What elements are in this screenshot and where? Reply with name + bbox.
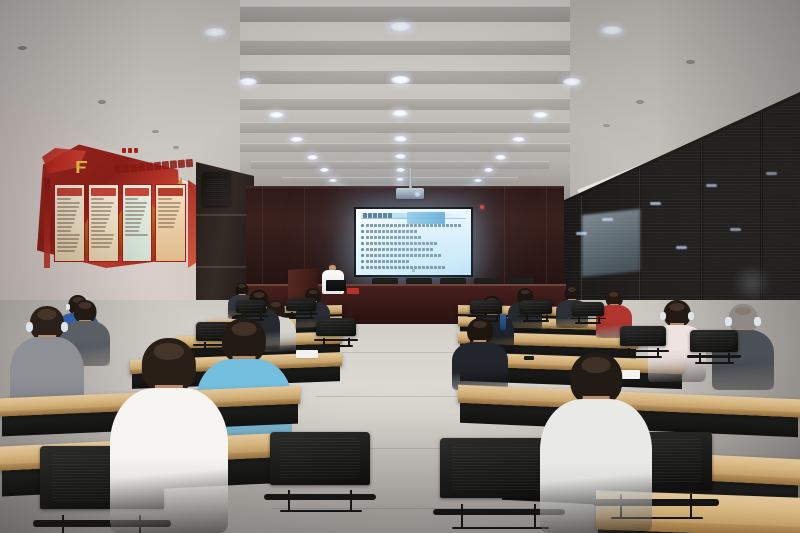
slide-bullet (361, 242, 466, 245)
chair-back[interactable] (270, 432, 370, 485)
attendee-hair-highlight (670, 303, 685, 311)
attendee-hair-highlight (521, 290, 530, 295)
ceiling-downlight (391, 76, 410, 84)
attendee-hair-highlight (473, 321, 487, 329)
attendee-hair-highlight (309, 290, 318, 295)
party-panel-line (125, 230, 139, 232)
conference-room-photo (0, 0, 800, 533)
glass-reflection-light (730, 228, 741, 231)
slide-bullet (361, 236, 466, 239)
glass-reflection-light (602, 218, 613, 221)
party-frame-left (44, 178, 50, 268)
attendee-hair-highlight (232, 322, 257, 335)
party-panel-line (91, 230, 105, 232)
party-panel-line (57, 234, 80, 236)
party-panel-line (57, 246, 77, 248)
party-panel-line (91, 218, 109, 220)
party-panel-line (125, 234, 148, 236)
slide-footer-mark (361, 269, 466, 272)
face-mask-icon (61, 322, 68, 332)
chair-leg (62, 515, 64, 533)
chair-sled-base (523, 320, 549, 322)
party-panel-line (91, 206, 113, 208)
face-mask-icon (26, 322, 33, 332)
party-panel-line (158, 198, 172, 200)
party-panel-line (57, 218, 75, 220)
chair-back[interactable] (572, 302, 604, 316)
party-panel-line (125, 210, 145, 212)
party-panel-line (57, 222, 74, 224)
party-panel-line (57, 238, 79, 240)
chair[interactable] (690, 330, 738, 360)
chair[interactable] (316, 318, 356, 343)
party-panel-line (125, 214, 144, 216)
party-panel-line (158, 210, 178, 212)
glass-reflection-blob (730, 266, 774, 300)
ceiling-downlight (392, 110, 408, 117)
party-panel-line (57, 198, 71, 200)
projection-screen (354, 207, 473, 277)
slide-bullet-text (366, 224, 461, 227)
chair-leg (348, 338, 350, 346)
head-table-nameplate (347, 288, 359, 294)
chair-leg (350, 490, 352, 512)
chair-armrest (314, 339, 359, 341)
party-info-panel (88, 184, 119, 262)
soffit-downlight (98, 100, 106, 104)
glass-reflection-light (650, 202, 661, 205)
ceiling-beam (215, 143, 586, 152)
chair-back[interactable] (520, 300, 552, 314)
ceiling-downlight (307, 155, 318, 160)
slide-bullet (361, 248, 466, 251)
attendee-hair-highlight (254, 292, 265, 298)
party-panel-line (57, 210, 77, 212)
glass-reflection-screen (582, 209, 640, 277)
chair-leg (657, 348, 659, 356)
ceiling-downlight (320, 168, 329, 172)
party-panel-line (158, 206, 180, 208)
party-info-panel (54, 184, 85, 262)
attendee-shoulder-shade (110, 455, 228, 533)
glass-reflection-light (576, 232, 587, 235)
soffit-downlight (152, 130, 159, 133)
party-panel-line (91, 234, 114, 236)
ceiling-downlight (389, 22, 412, 32)
party-panel-line (57, 214, 76, 216)
attendee-shoulder-shade (540, 461, 652, 533)
ceiling-downlight (495, 155, 506, 160)
party-panel-line (125, 198, 139, 200)
party-panel-line (125, 202, 148, 204)
chair-leg (323, 338, 325, 346)
glass-reflection-light (676, 246, 687, 249)
slide-bullet (361, 260, 466, 263)
ceiling-downlight (329, 179, 337, 182)
projector-lens-icon (414, 191, 421, 197)
slide-bullet-text (366, 254, 441, 257)
party-panel-line (91, 226, 106, 228)
ceiling-downlight (396, 178, 404, 181)
party-panel-line (57, 226, 72, 228)
slide (356, 209, 471, 275)
wall-speaker (202, 172, 230, 206)
slide-title-bar (361, 213, 466, 219)
party-frame-right (188, 180, 196, 268)
party-panel-heading (91, 188, 116, 196)
party-panel-line (91, 222, 108, 224)
ceiling-downlight (394, 136, 407, 142)
party-panel-line (91, 210, 111, 212)
chair-back[interactable] (620, 326, 666, 346)
bullet-marker-icon (361, 254, 364, 257)
chair[interactable] (270, 432, 370, 506)
party-panel-line (91, 214, 110, 216)
chair-armrest (687, 355, 741, 357)
slide-title-chip (407, 212, 445, 224)
attendee-hair-highlight (735, 307, 751, 316)
notebook (296, 350, 318, 358)
soffit-downlight (686, 60, 695, 64)
ceiling-downlight (533, 112, 548, 118)
party-panel-line (158, 226, 173, 228)
ceiling-downlight (601, 26, 623, 35)
chair-back[interactable] (470, 300, 502, 314)
bullet-marker-icon (361, 224, 364, 227)
bullet-marker-icon (361, 236, 364, 239)
chair-leg (288, 490, 290, 512)
party-panel-line (57, 202, 80, 204)
party-culture-wall (18, 140, 200, 272)
attendee-shoulder-shade (712, 356, 774, 390)
slide-bullet (361, 230, 466, 233)
slide-bullet-text (366, 242, 437, 245)
ceiling-downlight (290, 137, 303, 142)
party-panel-heading (57, 188, 82, 196)
party-panel-line (91, 202, 114, 204)
face-mask-icon (725, 317, 731, 326)
party-panel-line (91, 242, 112, 244)
party-panel-line (91, 238, 113, 240)
ceiling-downlight (269, 112, 284, 118)
party-panel-heading (125, 188, 150, 196)
attendee (452, 318, 508, 390)
attendee (540, 352, 652, 533)
party-panel-line (125, 218, 143, 220)
chair-back[interactable] (286, 298, 316, 311)
attendee (110, 338, 228, 533)
slide-bullet-text (366, 236, 421, 239)
party-panel-line (57, 242, 78, 244)
glass-reflection-light (706, 184, 717, 187)
bullet-marker-icon (361, 230, 364, 233)
ceiling-downlight (395, 154, 406, 159)
party-info-panel (122, 184, 153, 262)
party-panel-line (57, 206, 79, 208)
glass-reflection-light (766, 172, 777, 175)
attendee-hair-highlight (238, 284, 245, 288)
chair-back[interactable] (690, 330, 738, 352)
ceiling-downlight (484, 168, 493, 172)
bullet-marker-icon (361, 248, 364, 251)
face-mask-icon (754, 317, 760, 326)
face-mask-icon (688, 312, 694, 320)
party-panel-line (125, 222, 142, 224)
soffit-downlight (603, 124, 610, 127)
slide-bullet-list (361, 222, 466, 269)
soffit-downlight (636, 100, 644, 104)
bullet-marker-icon (361, 260, 364, 263)
chair-armrest (518, 316, 554, 318)
soffit-downlight (18, 46, 27, 50)
chair-leg (461, 504, 463, 529)
slide-bullet-text (366, 248, 433, 251)
slide-bullet-text (366, 260, 409, 263)
chair-sled-base (452, 527, 549, 529)
chair-sled-base (320, 345, 353, 347)
chair-armrest (284, 313, 318, 314)
chair[interactable] (620, 326, 666, 354)
chair-sled-base (695, 362, 734, 364)
chair-armrest (570, 318, 606, 320)
ceiling-downlight (204, 28, 226, 37)
chair-back[interactable] (236, 300, 266, 313)
bullet-marker-icon (361, 242, 364, 245)
chair-back[interactable] (316, 318, 356, 336)
ceiling-beam (173, 122, 627, 133)
party-panel-line (158, 202, 181, 204)
ceiling-downlight (396, 168, 405, 172)
party-star-icon (122, 148, 140, 155)
projector-mount (409, 168, 412, 190)
ceiling-downlight (563, 78, 581, 86)
ceiling-downlight (474, 179, 482, 182)
party-info-panels (54, 184, 186, 262)
chair-sled-base (575, 322, 601, 324)
phone (524, 356, 534, 360)
chair-leg (534, 504, 536, 529)
party-panel-line (158, 222, 175, 224)
party-panel-line (125, 226, 140, 228)
party-panel-line (158, 218, 176, 220)
party-panel-line (158, 214, 177, 216)
chair-sled-base (289, 317, 314, 319)
wall-indicator-light (480, 205, 484, 209)
chair-leg (690, 494, 692, 518)
party-panel-line (91, 246, 111, 248)
party-panel-line (57, 250, 75, 252)
party-panel-line (125, 206, 147, 208)
slide-bullet (361, 254, 466, 257)
party-panel-heading (158, 188, 183, 196)
party-panel-line (91, 198, 105, 200)
party-panel-line (57, 230, 71, 232)
slide-title-text (363, 213, 392, 218)
party-info-panel (155, 184, 186, 262)
slide-bullet-text (366, 230, 417, 233)
slide-bullet (361, 224, 466, 227)
ceiling-downlight (512, 137, 525, 142)
ceiling-downlight (239, 78, 257, 86)
chair-armrest (234, 315, 268, 316)
chair-armrest (264, 494, 376, 500)
